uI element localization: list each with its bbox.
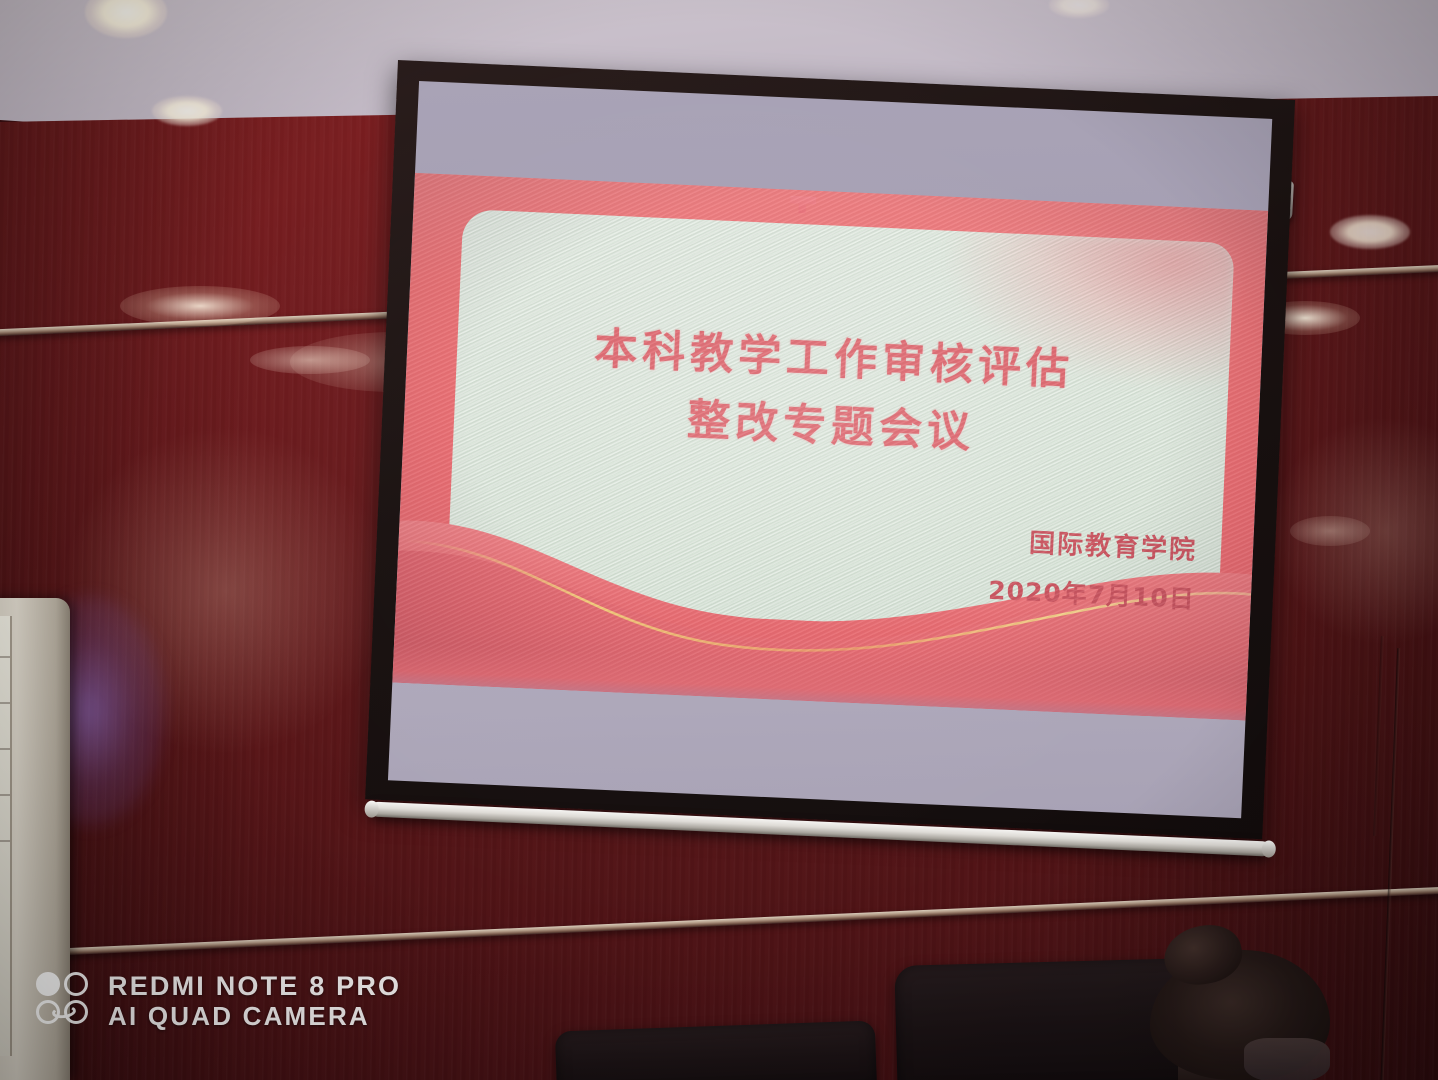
ceiling-light-icon	[85, 0, 167, 38]
screen-frame: 本科教学工作审核评估 整改专题会议 国际教育学院 2020年7月10日	[365, 60, 1295, 839]
slide-text-block: 本科教学工作审核评估 整改专题会议 国际教育学院 2020年7月10日	[392, 173, 1268, 720]
watermark-model: REDMI NOTE 8 PRO	[108, 972, 401, 1000]
ceiling-light-icon	[152, 96, 222, 126]
ceiling-light-icon	[1049, 0, 1109, 18]
conference-chair	[555, 1020, 877, 1080]
slide-organization: 国际教育学院	[1028, 523, 1197, 567]
quad-camera-logo-icon	[36, 972, 92, 1030]
seated-person	[1140, 928, 1350, 1080]
watermark-tagline: AI QUAD CAMERA	[108, 1003, 401, 1030]
cabinet-face	[0, 616, 12, 1056]
camera-watermark: REDMI NOTE 8 PRO AI QUAD CAMERA	[36, 972, 401, 1030]
person-face-mask	[1244, 1038, 1330, 1080]
projector-screen: 本科教学工作审核评估 整改专题会议 国际教育学院 2020年7月10日	[364, 60, 1328, 876]
screen-surface: 本科教学工作审核评估 整改专题会议 国际教育学院 2020年7月10日	[388, 81, 1272, 818]
ceiling-light-icon	[1330, 215, 1410, 249]
presentation-slide: 本科教学工作审核评估 整改专题会议 国际教育学院 2020年7月10日	[392, 173, 1268, 720]
slide-date: 2020年7月10日	[987, 571, 1195, 616]
watermark-text: REDMI NOTE 8 PRO AI QUAD CAMERA	[108, 972, 401, 1030]
photo-scene: 本科教学工作审核评估 整改专题会议 国际教育学院 2020年7月10日	[0, 0, 1438, 1080]
